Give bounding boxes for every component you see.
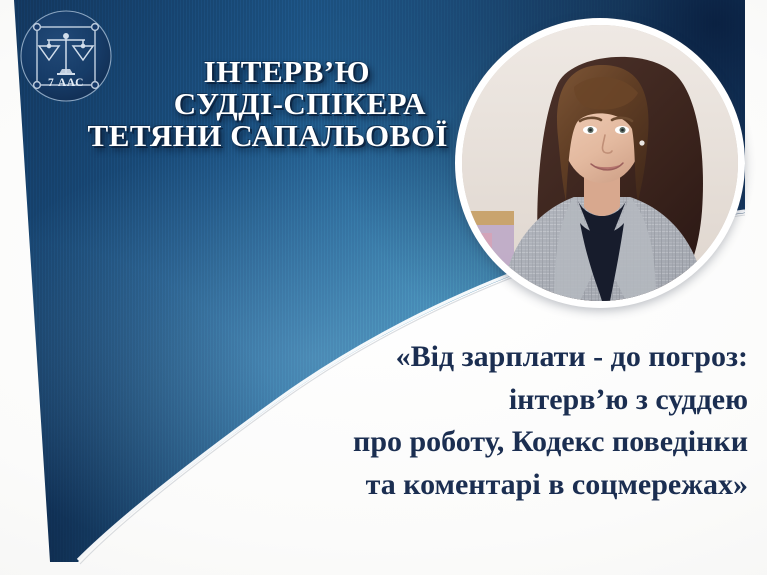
portrait-image-clip [462, 25, 738, 301]
portrait-photo [462, 25, 738, 301]
headline-line-3: ТЕТЯНИ САПАЛЬОВОЇ [8, 120, 448, 152]
headline-line-1: ІНТЕРВ’Ю [8, 56, 448, 88]
quote-line-4: та коментарі в соцмережах» [170, 464, 748, 507]
quote-line-1: «Від зарплати - до погроз: [170, 336, 748, 379]
quote-line-2: інтерв’ю з суддею [170, 379, 748, 422]
headline-line-2: СУДДІ-СПІКЕРА [8, 88, 448, 120]
interview-announcement-banner: 7 ААС ІНТЕРВ’Ю СУДДІ-СПІКЕРА ТЕТЯНИ САПА… [0, 0, 767, 575]
portrait-avatar [455, 18, 745, 308]
quote-line-3: про роботу, Кодекс поведінки [170, 421, 748, 464]
quote-block: «Від зарплати - до погроз: інтерв’ю з су… [170, 336, 748, 506]
headline-block: ІНТЕРВ’Ю СУДДІ-СПІКЕРА ТЕТЯНИ САПАЛЬОВОЇ [8, 56, 448, 152]
